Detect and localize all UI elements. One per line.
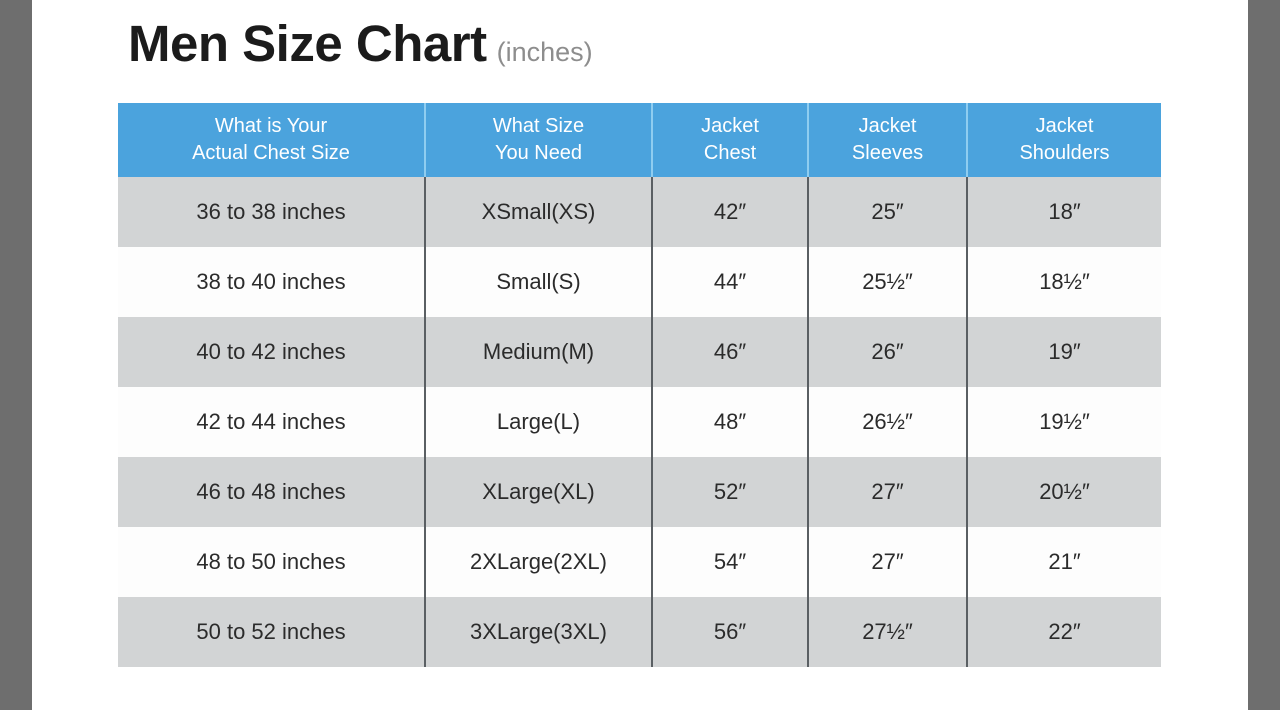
cell-chest-size: 50 to 52 inches (118, 597, 425, 667)
column-header-jacket-chest: Jacket Chest (652, 103, 808, 177)
size-chart-page: Men Size Chart (inches) What is Your Act… (32, 0, 1248, 710)
page-title: Men Size Chart (inches) (128, 18, 593, 69)
cell-size-needed: Large(L) (425, 387, 652, 457)
column-header-line-2: You Need (430, 140, 647, 167)
column-header-actual-chest-size: What is Your Actual Chest Size (118, 103, 425, 177)
cell-jacket-chest: 46″ (652, 317, 808, 387)
cell-jacket-shoulders: 18½″ (967, 247, 1161, 317)
men-size-chart-table: What is Your Actual Chest Size What Size… (118, 103, 1161, 667)
table-row: 36 to 38 inches XSmall(XS) 42″ 25″ 18″ (118, 177, 1161, 247)
table-row: 42 to 44 inches Large(L) 48″ 26½″ 19½″ (118, 387, 1161, 457)
column-header-line-1: What Size (430, 113, 647, 140)
cell-jacket-sleeves: 27½″ (808, 597, 967, 667)
cell-chest-size: 36 to 38 inches (118, 177, 425, 247)
table-row: 48 to 50 inches 2XLarge(2XL) 54″ 27″ 21″ (118, 527, 1161, 597)
column-header-line-2: Shoulders (972, 140, 1157, 167)
column-header-jacket-shoulders: Jacket Shoulders (967, 103, 1161, 177)
cell-chest-size: 38 to 40 inches (118, 247, 425, 317)
column-header-line-1: What is Your (122, 113, 420, 140)
cell-jacket-shoulders: 19½″ (967, 387, 1161, 457)
cell-jacket-shoulders: 22″ (967, 597, 1161, 667)
column-header-line-2: Actual Chest Size (122, 140, 420, 167)
column-header-jacket-sleeves: Jacket Sleeves (808, 103, 967, 177)
cell-chest-size: 42 to 44 inches (118, 387, 425, 457)
cell-jacket-sleeves: 25″ (808, 177, 967, 247)
cell-size-needed: 3XLarge(3XL) (425, 597, 652, 667)
cell-jacket-shoulders: 21″ (967, 527, 1161, 597)
cell-jacket-chest: 52″ (652, 457, 808, 527)
cell-size-needed: XLarge(XL) (425, 457, 652, 527)
column-header-line-2: Sleeves (813, 140, 962, 167)
column-header-line-1: Jacket (972, 113, 1157, 140)
cell-jacket-chest: 44″ (652, 247, 808, 317)
column-header-line-1: Jacket (813, 113, 962, 140)
cell-jacket-shoulders: 20½″ (967, 457, 1161, 527)
cell-jacket-sleeves: 26″ (808, 317, 967, 387)
screenshot-stage: Men Size Chart (inches) What is Your Act… (0, 0, 1280, 710)
cell-size-needed: 2XLarge(2XL) (425, 527, 652, 597)
letterbox-bar-left (0, 0, 32, 710)
cell-chest-size: 48 to 50 inches (118, 527, 425, 597)
cell-size-needed: XSmall(XS) (425, 177, 652, 247)
letterbox-bar-right (1248, 0, 1280, 710)
table-body: 36 to 38 inches XSmall(XS) 42″ 25″ 18″ 3… (118, 177, 1161, 667)
cell-jacket-sleeves: 27″ (808, 457, 967, 527)
table-row: 38 to 40 inches Small(S) 44″ 25½″ 18½″ (118, 247, 1161, 317)
table-row: 40 to 42 inches Medium(M) 46″ 26″ 19″ (118, 317, 1161, 387)
cell-jacket-shoulders: 19″ (967, 317, 1161, 387)
cell-jacket-sleeves: 26½″ (808, 387, 967, 457)
cell-jacket-chest: 56″ (652, 597, 808, 667)
cell-chest-size: 40 to 42 inches (118, 317, 425, 387)
page-title-unit: (inches) (497, 39, 593, 66)
column-header-line-1: Jacket (657, 113, 803, 140)
table-row: 50 to 52 inches 3XLarge(3XL) 56″ 27½″ 22… (118, 597, 1161, 667)
cell-size-needed: Medium(M) (425, 317, 652, 387)
table-header: What is Your Actual Chest Size What Size… (118, 103, 1161, 177)
cell-chest-size: 46 to 48 inches (118, 457, 425, 527)
column-header-line-2: Chest (657, 140, 803, 167)
cell-jacket-chest: 48″ (652, 387, 808, 457)
cell-jacket-sleeves: 25½″ (808, 247, 967, 317)
column-header-size-you-need: What Size You Need (425, 103, 652, 177)
cell-jacket-chest: 54″ (652, 527, 808, 597)
cell-jacket-sleeves: 27″ (808, 527, 967, 597)
cell-size-needed: Small(S) (425, 247, 652, 317)
table-header-row: What is Your Actual Chest Size What Size… (118, 103, 1161, 177)
cell-jacket-chest: 42″ (652, 177, 808, 247)
cell-jacket-shoulders: 18″ (967, 177, 1161, 247)
page-title-main: Men Size Chart (128, 18, 487, 69)
table-row: 46 to 48 inches XLarge(XL) 52″ 27″ 20½″ (118, 457, 1161, 527)
